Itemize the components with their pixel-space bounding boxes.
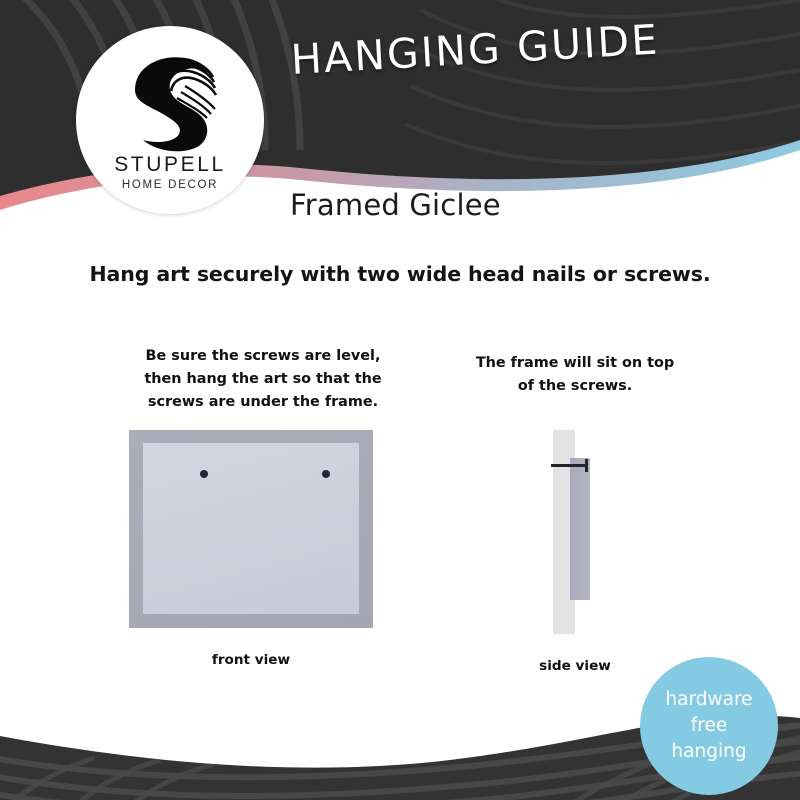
main-instruction-text: Hang art securely with two wide head nai… [0,262,800,286]
screw-dot-left [200,470,208,478]
brand-name: STUPELL [114,154,226,175]
hanging-guide-page: STUPELL HOME DECOR HANGING GUIDE Framed … [0,0,800,800]
brand-logo-badge: STUPELL HOME DECOR [76,26,264,214]
page-title: HANGING GUIDE [290,15,661,84]
side-view-screw-head [585,459,588,472]
product-type-heading: Framed Giclee [290,188,501,222]
front-view-frame-mat [143,443,359,614]
badge-line-3: hanging [671,739,746,765]
badge-line-1: hardware [665,687,752,713]
screw-dot-right [322,470,330,478]
brand-tagline: HOME DECOR [122,180,218,192]
side-view-screw-shaft [551,464,587,467]
stupell-swoosh-s-icon [117,48,223,152]
side-caption-line-2: of the screws. [460,375,690,398]
front-view-caption: Be sure the screws are level, then hang … [118,345,408,413]
hardware-free-hanging-badge: hardware free hanging [640,657,778,795]
badge-line-2: free [691,713,727,739]
front-view-label: front view [128,652,374,668]
front-caption-line-3: screws are under the frame. [118,391,408,414]
front-caption-line-2: then hang the art so that the [118,368,408,391]
side-view-frame [570,458,590,600]
side-view-caption: The frame will sit on top of the screws. [460,352,690,398]
front-view-frame-diagram [129,430,373,628]
side-view-label: side view [490,658,660,674]
front-caption-line-1: Be sure the screws are level, [118,345,408,368]
side-view-frame-diagram [545,430,611,634]
side-caption-line-1: The frame will sit on top [460,352,690,375]
